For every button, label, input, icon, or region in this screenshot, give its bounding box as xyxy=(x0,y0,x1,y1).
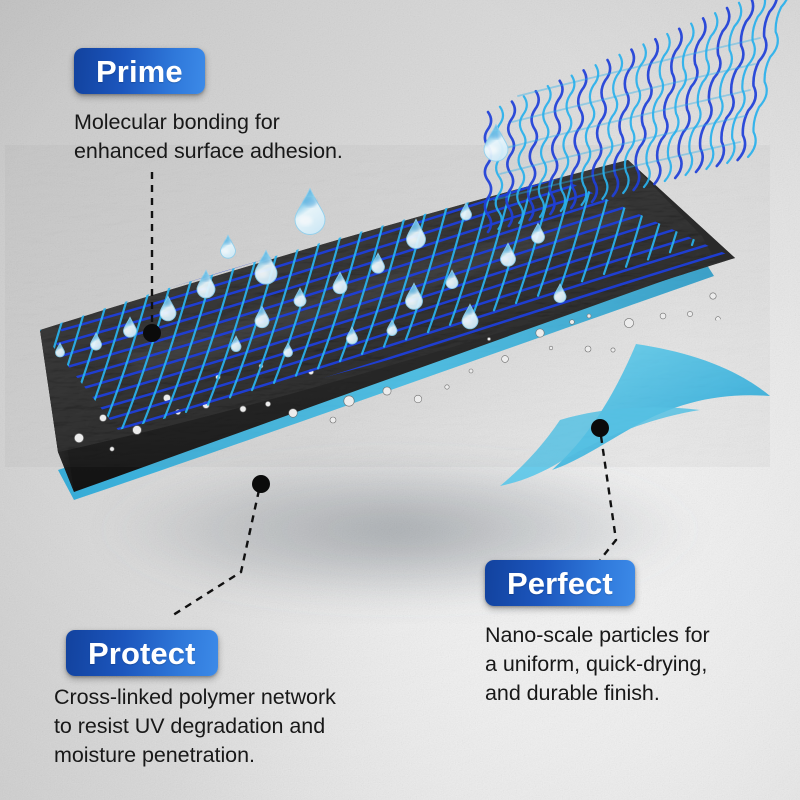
water-droplet xyxy=(221,235,236,258)
leader-prime-dot xyxy=(143,324,161,342)
water-droplet xyxy=(255,250,277,284)
leader-perfect-dot xyxy=(591,419,609,437)
water-droplet xyxy=(197,270,215,298)
infographic-canvas: Prime Molecular bonding for enhanced sur… xyxy=(0,0,800,800)
callout-text-prime: Molecular bonding for enhanced surface a… xyxy=(74,108,343,166)
leader-protect-dot xyxy=(252,475,270,493)
callout-badge-prime[interactable]: Prime xyxy=(74,48,205,94)
callout-badge-perfect[interactable]: Perfect xyxy=(485,560,635,606)
callout-text-protect: Cross-linked polymer network to resist U… xyxy=(54,683,336,770)
callout-badge-protect[interactable]: Protect xyxy=(66,630,218,676)
callout-text-perfect: Nano-scale particles for a uniform, quic… xyxy=(485,621,710,708)
water-droplet xyxy=(295,189,325,235)
